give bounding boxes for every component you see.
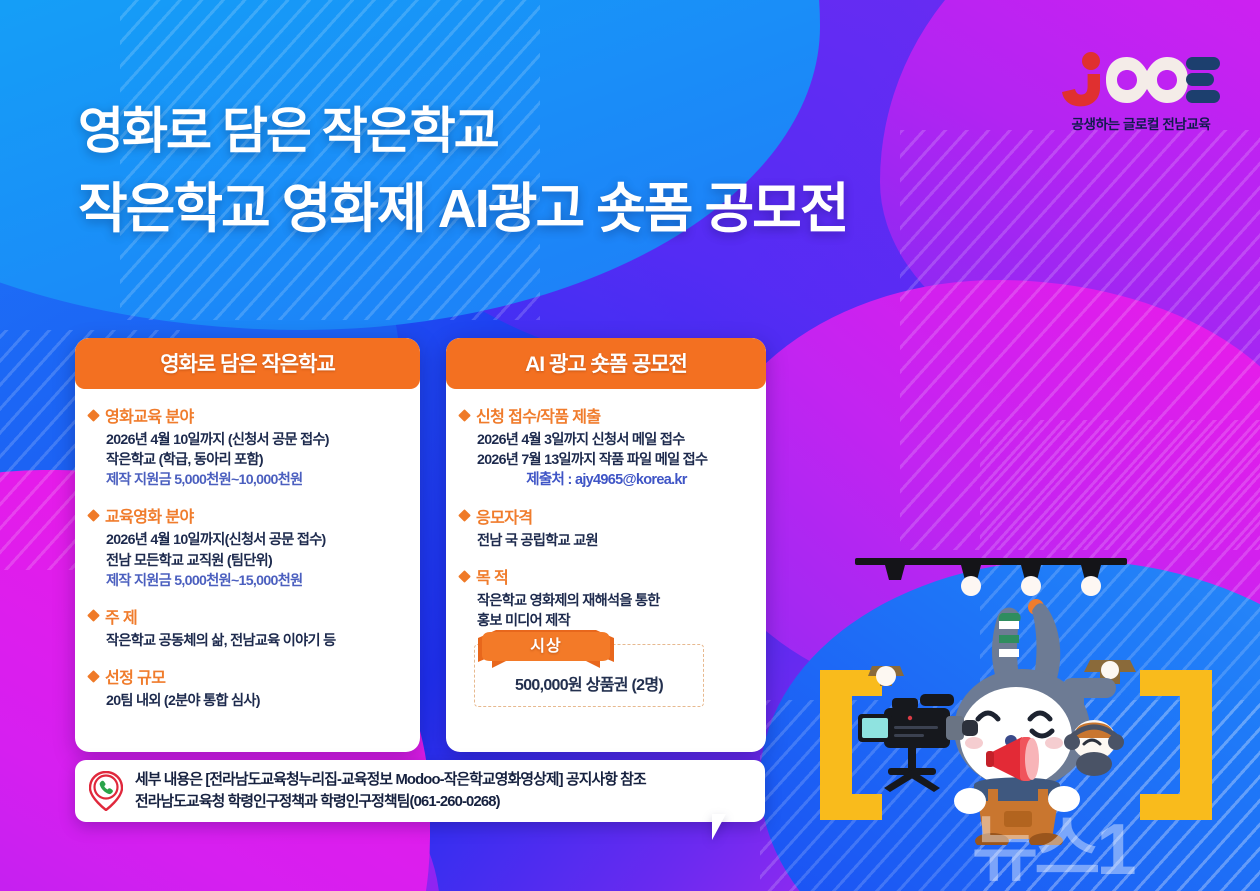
section-film-education-field: 영화교육 분야 2026년 4월 10일까지 (신청서 공문 접수) 작은학교 … [89, 403, 404, 490]
logo-infinity-icon [1104, 55, 1190, 105]
section-selection-scale: 선정 규모 20팀 내외 (2분야 통합 심사) [89, 664, 404, 711]
section-line-funding: 제작 지원금 5,000천원~10,000천원 [106, 470, 404, 490]
jne-logo-mark [1046, 52, 1236, 108]
section-title-row: 목 적 [460, 564, 750, 588]
diamond-bullet-icon [87, 409, 100, 422]
ribbon-label: 시상 [478, 632, 614, 656]
poster-headline: 영화로 담은 작은학교 작은학교 영화제 AI광고 숏폼 공모전 [78, 102, 848, 241]
card-film-education-body: 영화교육 분야 2026년 4월 10일까지 (신청서 공문 접수) 작은학교 … [75, 389, 420, 721]
section-title-text: 응모자격 [476, 504, 532, 528]
section-line: 2026년 7월 13일까지 작품 파일 메일 접수 [477, 450, 750, 470]
section-lines: 2026년 4월 3일까지 신청서 메일 접수 2026년 7월 13일까지 작… [460, 430, 750, 491]
contact-note: 세부 내용은 [전라남도교육청누리집-교육정보 Modoo-작은학교영화영상제]… [75, 760, 765, 822]
headline-line-2: 작은학교 영화제 AI광고 숏폼 공모전 [78, 178, 848, 241]
section-title-row: 선정 규모 [89, 664, 404, 688]
award-prize-text: 500,000원 상품권 (2명) [475, 671, 703, 695]
diamond-bullet-icon [87, 670, 100, 683]
section-line: 전남 모든학교 교직원 (팀단위) [106, 551, 404, 571]
award-block: 500,000원 상품권 (2명) 시상 [474, 644, 704, 707]
section-title-row: 신청 접수/작품 제출 [460, 403, 750, 427]
mascot-scene: 뉴스1 [800, 540, 1260, 891]
contact-note-tail [712, 814, 726, 840]
news1-watermark: 뉴스1 [972, 790, 1133, 891]
diamond-bullet-icon [458, 510, 471, 523]
logo-letter-e-icon [1186, 55, 1220, 105]
section-line: 2026년 4월 3일까지 신청서 메일 접수 [477, 430, 750, 450]
phone-pin-icon [89, 771, 123, 811]
section-title-row: 영화교육 분야 [89, 403, 404, 427]
diamond-bullet-icon [458, 409, 471, 422]
card-ai-ad-shortform-body: 신청 접수/작품 제출 2026년 4월 3일까지 신청서 메일 접수 2026… [446, 389, 766, 717]
boom-microphone-icon [1058, 658, 1168, 778]
section-title-row: 응모자격 [460, 504, 750, 528]
headline-line-1: 영화로 담은 작은학교 [78, 102, 848, 160]
section-theme: 주 제 작은학교 공동체의 삶, 전남교육 이야기 등 [89, 604, 404, 651]
contact-note-line-2: 전라남도교육청 학령인구정책과 학령인구정책팀(061-260-0268) [135, 791, 646, 813]
section-education-film-field: 교육영화 분야 2026년 4월 10일까지(신청서 공문 접수) 전남 모든학… [89, 503, 404, 590]
logo-tagline: 공생하는 글로컬 전남교육 [1046, 113, 1236, 133]
section-purpose: 목 적 작은학교 영화제의 재해석을 통한 홍보 미디어 제작 [460, 564, 750, 631]
card-film-education-header: 영화로 담은 작은학교 [75, 338, 420, 389]
section-line: 20팀 내외 (2분야 통합 심사) [106, 691, 404, 711]
card-ai-ad-shortform: AI 광고 숏폼 공모전 신청 접수/작품 제출 2026년 4월 3일까지 신… [446, 338, 766, 752]
section-lines: 2026년 4월 10일까지(신청서 공문 접수) 전남 모든학교 교직원 (팀… [89, 530, 404, 590]
section-lines: 2026년 4월 10일까지 (신청서 공문 접수) 작은학교 (학급, 동아리… [89, 430, 404, 490]
submission-email: 제출처 : ajy4965@korea.kr [477, 470, 750, 491]
video-camera-icon [854, 692, 984, 802]
poster-canvas: 공생하는 글로컬 전남교육 영화로 담은 작은학교 작은학교 영화제 AI광고 … [0, 0, 1260, 891]
section-title-text: 교육영화 분야 [105, 503, 194, 527]
section-line: 2026년 4월 10일까지(신청서 공문 접수) [106, 530, 404, 550]
section-line-funding: 제작 지원금 5,000천원~15,000천원 [106, 571, 404, 591]
section-line: 작은학교 (학급, 동아리 포함) [106, 450, 404, 470]
megaphone-icon [986, 735, 1052, 783]
diamond-bullet-icon [458, 570, 471, 583]
card-ai-ad-shortform-header: AI 광고 숏폼 공모전 [446, 338, 766, 389]
section-title-text: 선정 규모 [105, 664, 165, 688]
card-film-education: 영화로 담은 작은학교 영화교육 분야 2026년 4월 10일까지 (신청서 … [75, 338, 420, 752]
section-line: 2026년 4월 10일까지 (신청서 공문 접수) [106, 430, 404, 450]
section-lines: 전남 국 공립학교 교원 [460, 531, 750, 551]
jne-logo: 공생하는 글로컬 전남교육 [1046, 52, 1236, 133]
logo-letter-j-icon [1062, 52, 1108, 108]
section-lines: 작은학교 영화제의 재해석을 통한 홍보 미디어 제작 [460, 591, 750, 631]
section-title-text: 주 제 [105, 604, 137, 628]
bracket-right-bottom [1140, 794, 1212, 820]
section-application-submission: 신청 접수/작품 제출 2026년 4월 3일까지 신청서 메일 접수 2026… [460, 403, 750, 491]
section-title-text: 신청 접수/작품 제출 [476, 403, 601, 427]
section-line: 전남 국 공립학교 교원 [477, 531, 750, 551]
section-title-row: 주 제 [89, 604, 404, 628]
diamond-bullet-icon [87, 610, 100, 623]
section-line: 작은학교 영화제의 재해석을 통한 [477, 591, 750, 611]
contact-note-lines: 세부 내용은 [전라남도교육청누리집-교육정보 Modoo-작은학교영화영상제]… [135, 769, 646, 813]
section-title-row: 교육영화 분야 [89, 503, 404, 527]
diamond-bullet-icon [87, 509, 100, 522]
section-lines: 20팀 내외 (2분야 통합 심사) [89, 691, 404, 711]
award-ribbon: 시상 [478, 628, 614, 674]
section-eligibility: 응모자격 전남 국 공립학교 교원 [460, 504, 750, 551]
section-title-text: 목 적 [476, 564, 508, 588]
section-title-text: 영화교육 분야 [105, 403, 194, 427]
contact-note-line-1: 세부 내용은 [전라남도교육청누리집-교육정보 Modoo-작은학교영화영상제]… [135, 769, 646, 791]
section-lines: 작은학교 공동체의 삶, 전남교육 이야기 등 [89, 631, 404, 651]
section-line: 작은학교 공동체의 삶, 전남교육 이야기 등 [106, 631, 404, 651]
